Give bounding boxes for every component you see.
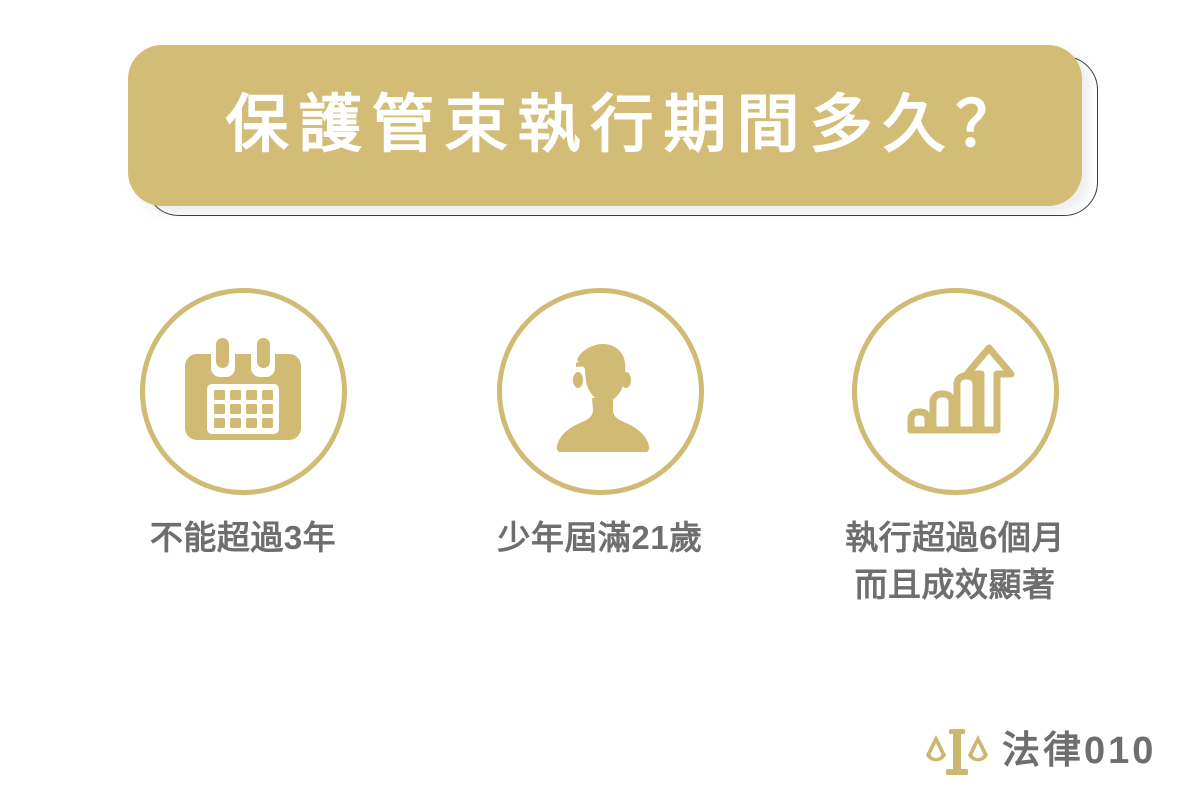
page-title: 保護管束執行期間多久？ [182, 94, 1029, 157]
infographic-canvas: 保護管束執行期間多久？ [0, 0, 1201, 801]
feature-list: 不能超過3年 少年屆滿21歲 [0, 288, 1201, 648]
icon-circle-person [497, 288, 704, 495]
person-icon [540, 332, 660, 452]
feature-item-progress: 執行超過6個月 而且成效顯著 [777, 288, 1133, 609]
icon-circle-calendar [140, 288, 347, 495]
calendar-icon [183, 332, 303, 452]
brand-logo: 法律010 [924, 722, 1156, 780]
scales-of-justice-icon [924, 725, 990, 777]
feature-caption: 不能超過3年 [150, 515, 336, 562]
title-banner: 保護管束執行期間多久？ [128, 45, 1100, 220]
feature-caption: 少年屆滿21歲 [497, 515, 702, 562]
growth-arrow-icon [895, 332, 1015, 452]
banner-fill: 保護管束執行期間多久？ [128, 45, 1082, 206]
feature-item-age: 少年屆滿21歲 [422, 288, 778, 562]
icon-circle-growth [852, 288, 1059, 495]
feature-caption: 執行超過6個月 而且成效顯著 [845, 515, 1065, 609]
feature-item-duration: 不能超過3年 [65, 288, 421, 562]
brand-name: 法律010 [1002, 732, 1156, 770]
